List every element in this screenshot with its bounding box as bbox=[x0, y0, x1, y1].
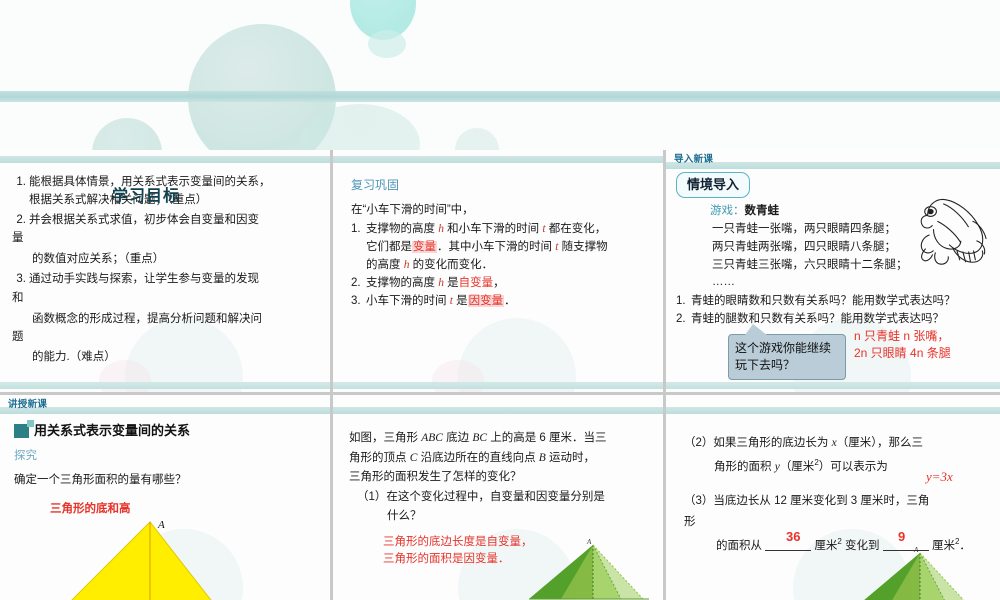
question-list: 1. 青蛙的眼睛数和只数有关系吗？能用数学式表达吗？ 2. 青蛙的腿数和只数有关… bbox=[676, 293, 990, 329]
item-text: 支撑物的高度 h 和小车下滑的时间 t 都在变化， 它们都是变量．其中小车下滑的… bbox=[366, 221, 645, 274]
prompt-line: 角形的顶点 C 沿底边所在的直线向点 B 运动时， bbox=[349, 449, 647, 469]
square-bullet-icon bbox=[14, 424, 29, 438]
answer-block: 三角形的底边长度是自变量， 三角形的面积是因变量． bbox=[383, 534, 647, 569]
page-title-overlay: 学习目标 bbox=[112, 182, 180, 206]
review-heading: 复习巩固 bbox=[351, 176, 645, 195]
slide-lesson-intro[interactable]: 导入新课 情境导入 游戏：数青蛙 一只青蛙一张嘴，两只眼睛四条腿； 两只青蛙两张… bbox=[666, 150, 1000, 392]
label-bc: BC bbox=[472, 432, 487, 444]
rhyme-line: 一只青蛙一张嘴，两只眼睛四条腿； bbox=[712, 221, 990, 239]
vertex-label-a: A bbox=[157, 519, 165, 531]
list-item: 1. 青蛙的眼睛数和只数有关系吗？能用数学式表达吗？ bbox=[676, 293, 990, 311]
question-3: （3）当底边长从 12 厘米变化到 3 厘米时，三角 bbox=[684, 491, 982, 513]
item-number: 1. bbox=[351, 221, 366, 274]
decorative-circle bbox=[458, 318, 576, 392]
slide-top-band bbox=[666, 407, 1000, 414]
game-label: 游戏： bbox=[710, 205, 745, 217]
game-heading: 游戏：数青蛙 bbox=[710, 203, 990, 221]
item-number: 1. bbox=[12, 174, 29, 210]
q3-unit-1: 厘米 bbox=[811, 540, 837, 552]
var-h: h bbox=[438, 277, 444, 289]
item-text: 小车下滑的时间 t 是因变量． bbox=[366, 293, 645, 311]
answer-blank-1[interactable] bbox=[765, 550, 811, 551]
var-t: t bbox=[555, 241, 558, 253]
answer-line-2: 2n 只眼睛 4n 条腿 bbox=[854, 346, 951, 360]
title-banner-slide[interactable] bbox=[0, 0, 1000, 150]
question-2: （2）如果三角形的底边长为 x（厘米），那么三 bbox=[684, 433, 982, 455]
list-item: 3. 通过动手实践与探索，让学生参与变量的发现 bbox=[12, 271, 318, 289]
term-variable: 变量 bbox=[412, 241, 437, 253]
question-1: （1）在这个变化过程中，自变量和因变量分别是 bbox=[357, 488, 647, 508]
item-text: 青蛙的腿数和只数有关系吗？能用数学式表达吗？ bbox=[691, 311, 990, 329]
goal-line: 函数概念的形成过程，提高分析问题和解决问 bbox=[32, 311, 318, 329]
item-number: 3. bbox=[351, 293, 366, 311]
goal-line: 和 bbox=[12, 290, 318, 308]
list-item: 2. 并会根据关系式求值，初步体会自变量和因变 bbox=[12, 212, 318, 230]
slide-top-band bbox=[0, 156, 330, 163]
q2-text-c: 角形的面积 bbox=[714, 461, 775, 473]
answer-line: 三角形的底边长度是自变量， bbox=[383, 534, 647, 551]
slide-relation-formula[interactable]: （2）如果三角形的底边长为 x（厘米），那么三 角形的面积 y（厘米2）可以表示… bbox=[666, 395, 1000, 600]
goal-line: 的能力.（难点） bbox=[32, 349, 318, 367]
goal-line: 量 bbox=[12, 230, 318, 248]
relation-formula-body: （2）如果三角形的底边长为 x（厘米），那么三 角形的面积 y（厘米2）可以表示… bbox=[666, 433, 1000, 558]
slide-thumbnail-grid: 1. 能根据具体情景，用关系式表示变量间的关系， 根据关系式解决相关问题；（重点… bbox=[0, 150, 1000, 600]
rhyme-line: 两只青蛙两张嘴，四只眼睛八条腿； bbox=[712, 239, 990, 257]
rhyme-ellipsis: …… bbox=[712, 274, 990, 292]
question-number: （1） bbox=[357, 491, 386, 503]
goal-line: 题 bbox=[12, 329, 318, 347]
triangle-problem-body: 如图，三角形 ABC 底边 BC 上的高是 6 厘米．当三 角形的顶点 C 沿底… bbox=[333, 429, 663, 568]
var-t: t bbox=[450, 295, 453, 307]
superscript-2: 2 bbox=[955, 537, 959, 546]
answer-line: 三角形的面积是因变量． bbox=[383, 551, 647, 568]
review-intro: 在“小车下滑的时间”中， bbox=[351, 202, 645, 220]
slide-new-lesson[interactable]: 讲授新课 用关系式表示变量间的关系 探究 确定一个三角形面积的量有哪些？ 三角形… bbox=[0, 395, 330, 600]
var-h: h bbox=[404, 259, 410, 271]
q3-text-b: 的面积从 bbox=[716, 540, 765, 552]
list-item: 3. 小车下滑的时间 t 是因变量． bbox=[351, 293, 645, 311]
item-number: 2. bbox=[676, 311, 691, 329]
goal-line: 的数值对应关系；（重点） bbox=[32, 251, 318, 269]
list-item: 2. 青蛙的腿数和只数有关系吗？能用数学式表达吗？ bbox=[676, 311, 990, 329]
formula-answer: n 只青蛙 n 张嘴， 2n 只眼睛 4n 条腿 bbox=[854, 328, 951, 363]
question-2-cont: 角形的面积 y（厘米2）可以表示为 bbox=[714, 455, 982, 479]
question-text: 在这个变化过程中，自变量和因变量分别是 bbox=[386, 491, 605, 503]
slide-top-band bbox=[666, 162, 1000, 169]
section-label-lesson-intro: 导入新课 bbox=[674, 153, 713, 168]
q2-text-b: （厘米），那么三 bbox=[837, 437, 923, 449]
yellow-triangle-diagram: A bbox=[66, 516, 234, 600]
question-3-fill: 的面积从 厘米2 变化到 厘米2． bbox=[716, 534, 982, 558]
review-list: 1. 支撑物的高度 h 和小车下滑的时间 t 都在变化， 它们都是变量．其中小车… bbox=[351, 221, 645, 310]
item-number: 2. bbox=[351, 275, 366, 293]
var-t: t bbox=[542, 223, 545, 235]
list-item: 1. 支撑物的高度 h 和小车下滑的时间 t 都在变化， 它们都是变量．其中小车… bbox=[351, 221, 645, 274]
item-number: 3. bbox=[12, 271, 29, 289]
explore-question: 确定一个三角形面积的量有哪些？ bbox=[14, 472, 316, 490]
lesson-title-text: 用关系式表示变量间的关系 bbox=[34, 423, 190, 438]
item-text: 通过动手实践与探索，让学生参与变量的发现 bbox=[29, 271, 318, 289]
new-lesson-body: 用关系式表示变量间的关系 探究 确定一个三角形面积的量有哪些？ 三角形的底和高 bbox=[0, 421, 330, 519]
prompt-line: 三角形的面积发生了怎样的变化？ bbox=[349, 468, 647, 488]
label-c: C bbox=[410, 452, 418, 464]
lesson-intro-body: 情境导入 游戏：数青蛙 一只青蛙一张嘴，两只眼睛四条腿； 两只青蛙两张嘴，四只眼… bbox=[666, 172, 1000, 329]
question-number: （3） bbox=[684, 495, 713, 507]
item-text: 并会根据关系式求值，初步体会自变量和因变 bbox=[29, 212, 318, 230]
game-name: 数青蛙 bbox=[745, 205, 780, 217]
item-number: 1. bbox=[676, 293, 691, 311]
slide-top-band bbox=[0, 407, 330, 414]
slide-review[interactable]: 复习巩固 在“小车下滑的时间”中， 1. 支撑物的高度 h 和小车下滑的时间 t… bbox=[333, 150, 663, 392]
decorative-bubble-faint bbox=[455, 128, 499, 150]
section-label-new-lesson: 讲授新课 bbox=[8, 398, 47, 413]
label-b: B bbox=[539, 452, 546, 464]
slide-bottom-band bbox=[0, 382, 330, 389]
slide-bottom-band bbox=[666, 382, 1000, 389]
banner-divider-band bbox=[0, 91, 1000, 102]
slide-top-band bbox=[333, 156, 663, 163]
speech-bubble-question: 这个游戏你能继续玩下去吗？ bbox=[728, 334, 846, 380]
question-number: （2） bbox=[684, 437, 713, 449]
answer-blank-2[interactable] bbox=[883, 550, 929, 551]
question-3-cont: 形 bbox=[684, 512, 982, 534]
slide-triangle-problem[interactable]: 如图，三角形 ABC 底边 BC 上的高是 6 厘米．当三 角形的顶点 C 沿底… bbox=[333, 395, 663, 600]
review-body: 复习巩固 在“小车下滑的时间”中， 1. 支撑物的高度 h 和小车下滑的时间 t… bbox=[333, 176, 663, 310]
q2-text-e: ）可以表示为 bbox=[819, 461, 888, 473]
slide-deck: 1. 能根据具体情景，用关系式表示变量间的关系， 根据关系式解决相关问题；（重点… bbox=[0, 0, 1000, 600]
q3-text-c: 变化到 bbox=[842, 540, 883, 552]
scenario-chip: 情境导入 bbox=[676, 172, 750, 198]
q2-text-a: 如果三角形的底边长为 bbox=[713, 437, 831, 449]
explore-answer: 三角形的底和高 bbox=[50, 501, 316, 519]
item-text: 青蛙的眼睛数和只数有关系吗？能用数学式表达吗？ bbox=[691, 293, 990, 311]
q3-text-a: 当底边长从 12 厘米变化到 3 厘米时，三角 bbox=[713, 495, 929, 507]
item-text: 支撑物的高度 h 是自变量， bbox=[366, 275, 645, 293]
term-dependent-variable: 因变量 bbox=[468, 295, 505, 307]
explore-label: 探究 bbox=[14, 448, 316, 466]
decorative-bubble-mini bbox=[368, 30, 406, 58]
rhyme-line: 三只青蛙三张嘴，六只眼睛十二条腿； bbox=[712, 257, 990, 275]
q3-unit-2: 厘米 bbox=[929, 540, 955, 552]
question-1-cont: 什么？ bbox=[387, 507, 647, 527]
list-item: 2. 支撑物的高度 h 是自变量， bbox=[351, 275, 645, 293]
slide-bottom-band bbox=[333, 382, 663, 389]
label-abc: ABC bbox=[421, 432, 443, 444]
learning-goals-list-cont: 3. 通过动手实践与探索，让学生参与变量的发现 bbox=[12, 271, 318, 289]
prompt-line: 如图，三角形 ABC 底边 BC 上的高是 6 厘米．当三 bbox=[349, 429, 647, 449]
term-independent-variable: 自变量 bbox=[459, 277, 494, 289]
decorative-bubble-small bbox=[92, 118, 162, 150]
q2-text-d: （厘米 bbox=[780, 461, 815, 473]
lesson-title: 用关系式表示变量间的关系 bbox=[14, 421, 316, 441]
goal-line: 并会根据关系式求值，初步体会自变量和因变 bbox=[29, 214, 259, 226]
slide-top-band bbox=[333, 407, 663, 414]
var-h: h bbox=[438, 223, 444, 235]
item-number: 2. bbox=[12, 212, 29, 230]
answer-line-1: n 只青蛙 n 张嘴， bbox=[854, 329, 949, 343]
